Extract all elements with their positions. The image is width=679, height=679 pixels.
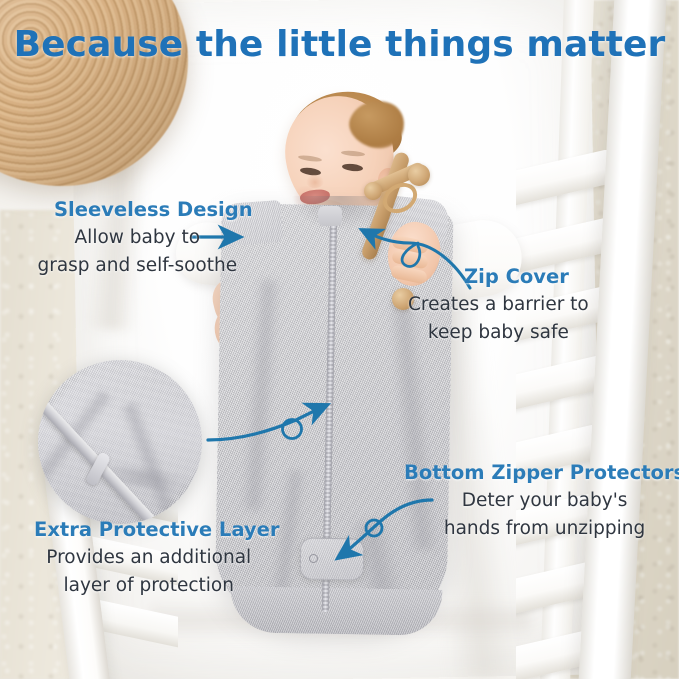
callout-body-line-1: Provides an additional bbox=[18, 547, 279, 569]
baby-nose bbox=[306, 174, 324, 188]
callout-body-line-2: keep baby safe bbox=[408, 322, 589, 344]
callout-extra-protective-layer: Extra Protective Layer Provides an addit… bbox=[18, 518, 279, 597]
callout-title: Extra Protective Layer bbox=[34, 518, 279, 541]
page-headline: Because the little things matter bbox=[0, 24, 679, 65]
zip-cover-tab bbox=[318, 206, 342, 226]
wooden-rattle-bead bbox=[364, 182, 382, 200]
infographic-scene: Because the little things matter Sleevel… bbox=[0, 0, 679, 679]
callout-zip-cover: Zip Cover Creates a barrier to keep baby… bbox=[408, 265, 589, 344]
zipper-tab-snap bbox=[309, 554, 318, 563]
callout-sleeveless-design: Sleeveless Design Allow baby to grasp an… bbox=[22, 198, 253, 277]
callout-body-line-1: Deter your baby's bbox=[404, 490, 679, 512]
callout-title: Bottom Zipper Protectors bbox=[404, 461, 679, 484]
callout-body-line-1: Creates a barrier to bbox=[408, 294, 589, 316]
callout-body-line-1: Allow baby to bbox=[22, 227, 253, 249]
callout-bottom-zipper-protectors: Bottom Zipper Protectors Deter your baby… bbox=[404, 461, 679, 540]
callout-title: Zip Cover bbox=[464, 265, 589, 288]
callout-body-line-2: grasp and self-soothe bbox=[22, 255, 253, 277]
callout-title: Sleeveless Design bbox=[54, 198, 253, 221]
zipper-closeup-inset bbox=[38, 360, 202, 524]
wooden-rattle-bead bbox=[408, 164, 430, 186]
callout-body-line-2: layer of protection bbox=[18, 575, 279, 597]
callout-body-line-2: hands from unzipping bbox=[404, 518, 679, 540]
